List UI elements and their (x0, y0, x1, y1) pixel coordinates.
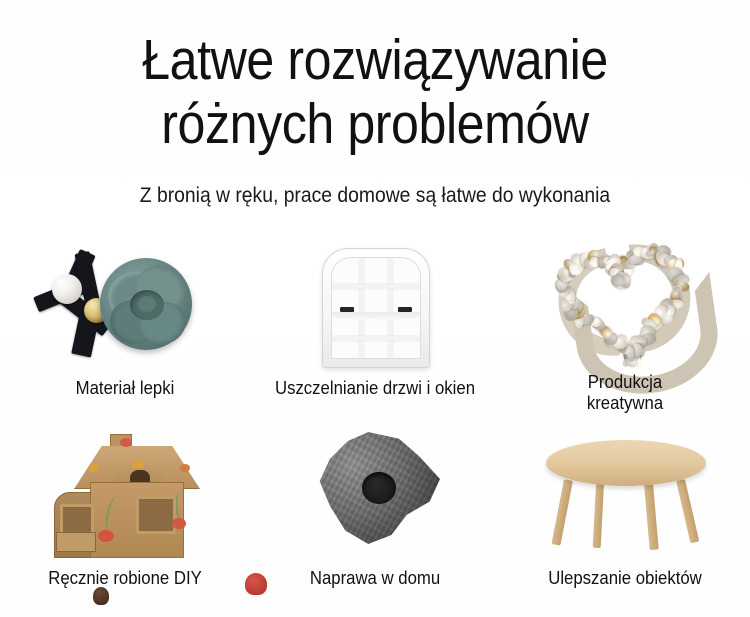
feature-item-home-repair: Naprawa w domu (250, 422, 500, 589)
round-wooden-table-icon (500, 422, 750, 562)
feature-item-object-improvement: Ulepszanie obiektów (500, 422, 750, 589)
hole-icon (362, 472, 396, 504)
stone-with-hole-icon (250, 422, 500, 562)
feature-caption: Naprawa w domu (259, 568, 492, 589)
feature-item-sealing-doors-windows: Uszczelnianie drzwi i okien (250, 232, 500, 399)
page-title: Łatwe rozwiązywanie różnych problemów (45, 28, 705, 156)
feature-item-creative-production: Produkcja kreatywna (500, 232, 750, 414)
window-latch-icon (398, 307, 412, 312)
shell-heart-wreath-icon (500, 232, 750, 372)
window-latch-icon (340, 307, 354, 312)
cardboard-playhouse-icon (0, 422, 250, 562)
feature-item-handmade-diy: Ręcznie robione DIY (0, 422, 250, 589)
arched-window-icon (250, 232, 500, 372)
feature-caption: Materiał lepki (9, 378, 242, 399)
promo-banner: Łatwe rozwiązywanie różnych problemów Z … (0, 0, 750, 617)
brooch-rose-icon (0, 232, 250, 372)
fabric-rose-icon (100, 258, 192, 350)
feature-caption: Uszczelnianie drzwi i okien (259, 378, 492, 399)
feature-item-sticky-material: Materiał lepki (0, 232, 250, 399)
pearl-bead-icon (52, 274, 82, 304)
feature-grid: Materiał lepki (0, 232, 750, 592)
feature-caption: Ręcznie robione DIY (9, 568, 242, 589)
feature-caption: Produkcja kreatywna (509, 372, 742, 414)
feature-caption: Ulepszanie obiektów (509, 568, 742, 589)
page-subtitle: Z bronią w ręku, prace domowe są łatwe d… (30, 183, 720, 209)
